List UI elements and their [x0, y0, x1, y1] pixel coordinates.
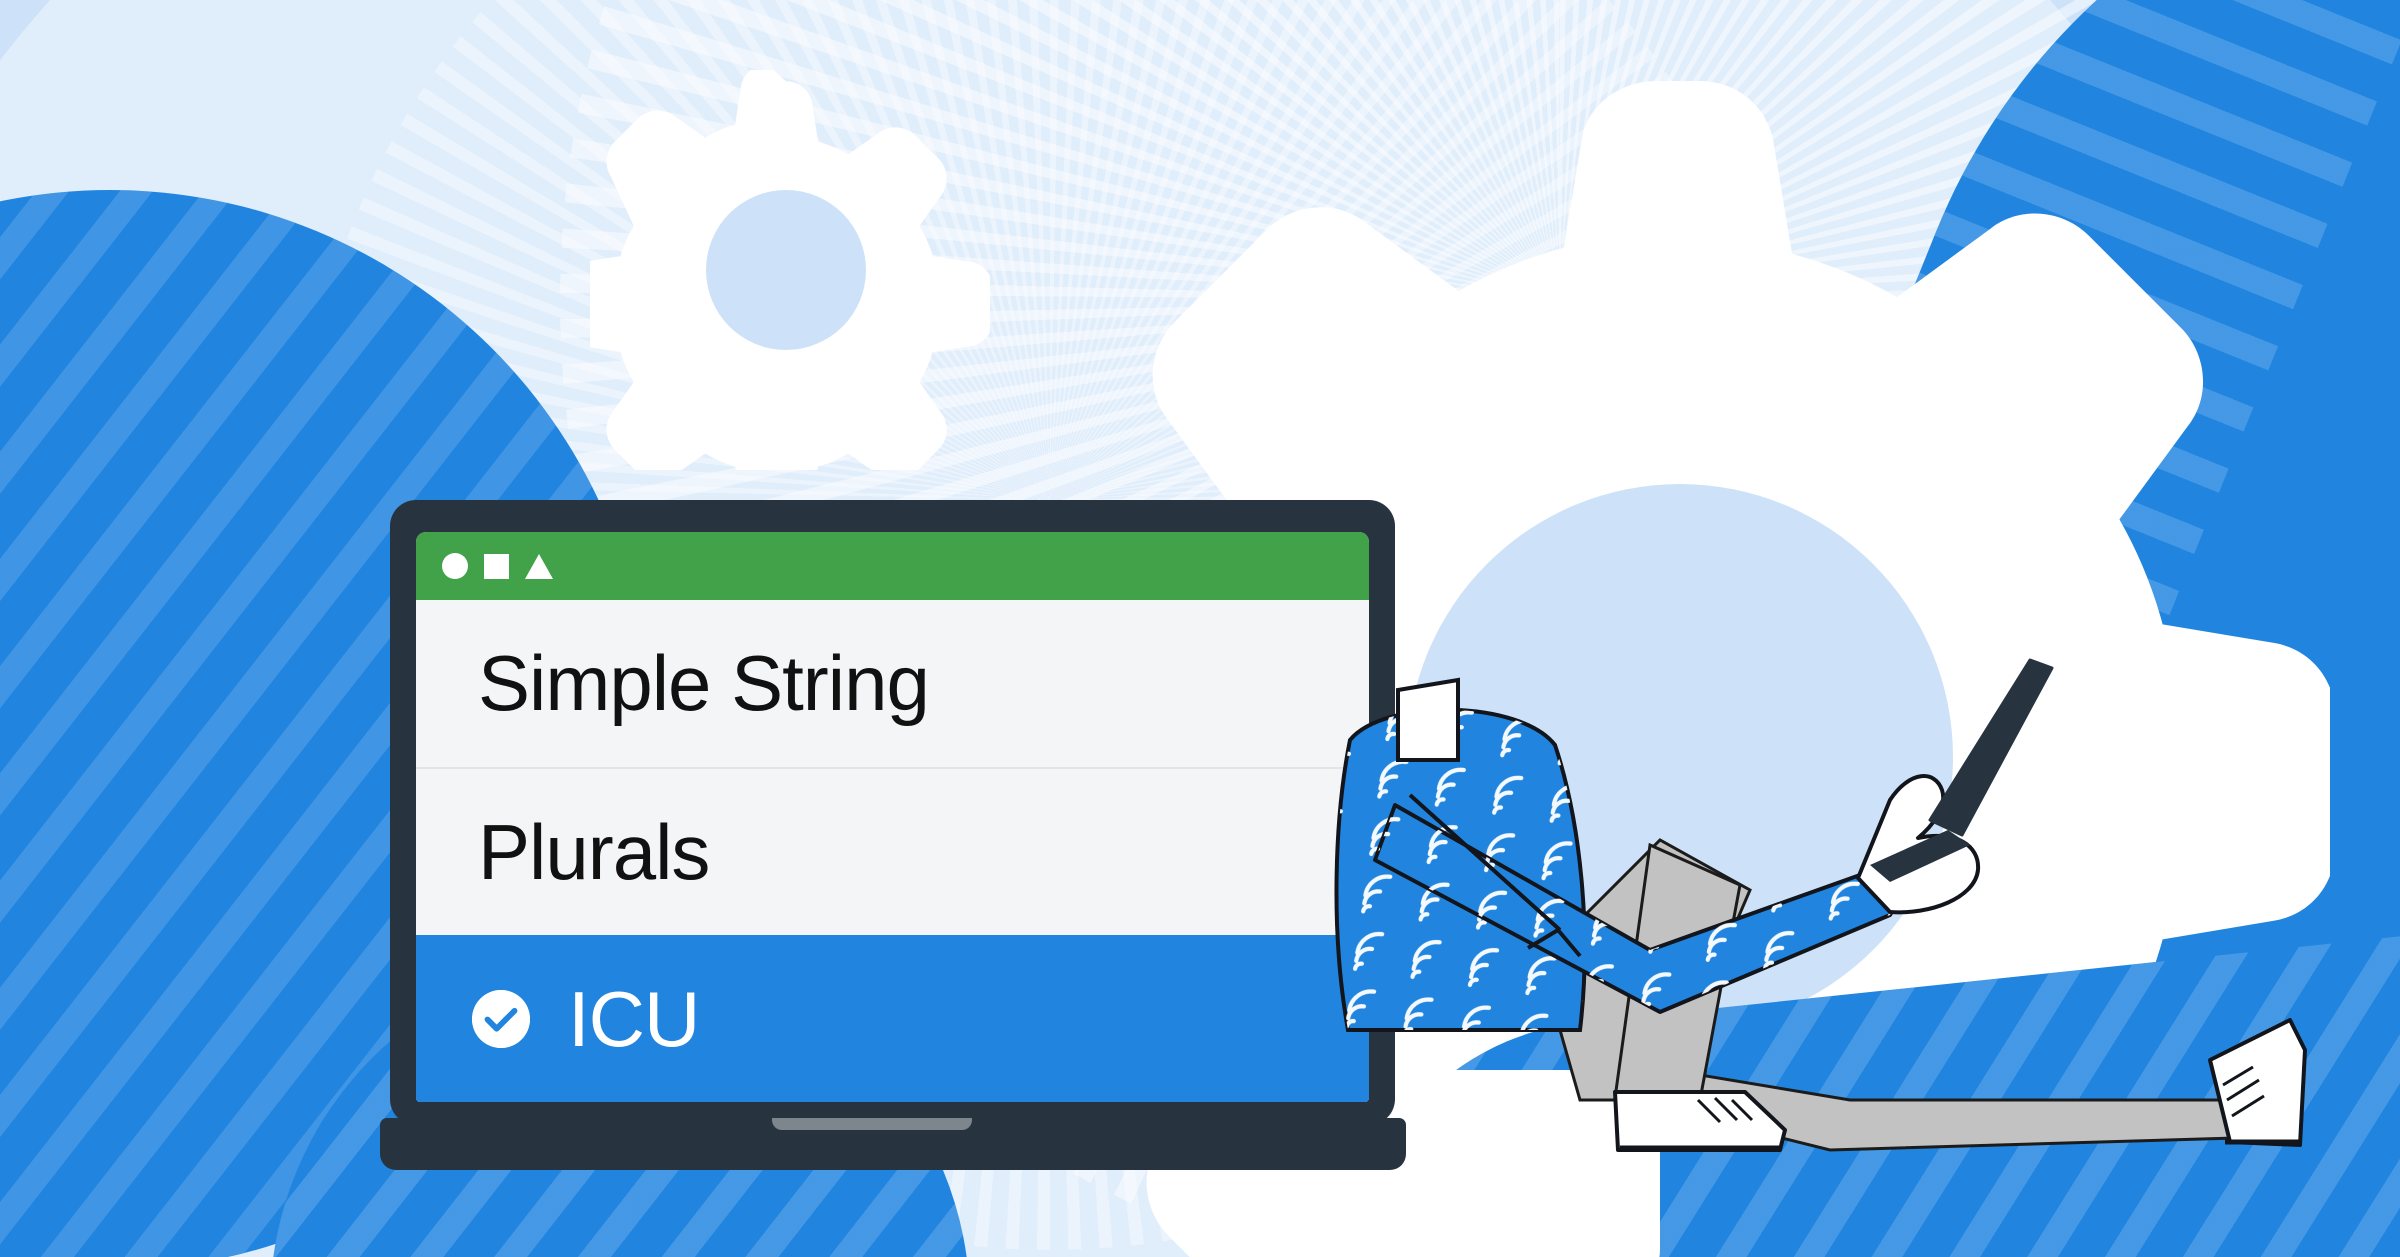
circle-icon[interactable] [442, 553, 468, 579]
option-label: Simple String [478, 644, 929, 722]
laptop-notch [772, 1118, 972, 1130]
check-circle-icon [472, 990, 530, 1048]
laptop-screen: Simple String Plurals ICU [416, 532, 1369, 1102]
shoe-right [2210, 1020, 2305, 1145]
laptop-mockup: Simple String Plurals ICU [380, 500, 1440, 1200]
gear-small-white-icon [590, 70, 990, 470]
square-icon[interactable] [484, 554, 509, 579]
held-laptop [1930, 660, 2052, 835]
option-row-simple-string[interactable]: Simple String [416, 600, 1369, 767]
neck [1398, 680, 1458, 760]
option-label: ICU [568, 980, 699, 1058]
option-label: Plurals [478, 813, 709, 891]
illustration-canvas: Simple String Plurals ICU [0, 0, 2400, 1257]
option-row-plurals[interactable]: Plurals [416, 767, 1369, 936]
character-illustration [1330, 630, 2390, 1250]
triangle-icon[interactable] [525, 554, 553, 579]
option-row-icu[interactable]: ICU [416, 935, 1369, 1102]
window-titlebar [416, 532, 1369, 600]
format-options-list: Simple String Plurals ICU [416, 600, 1369, 1102]
